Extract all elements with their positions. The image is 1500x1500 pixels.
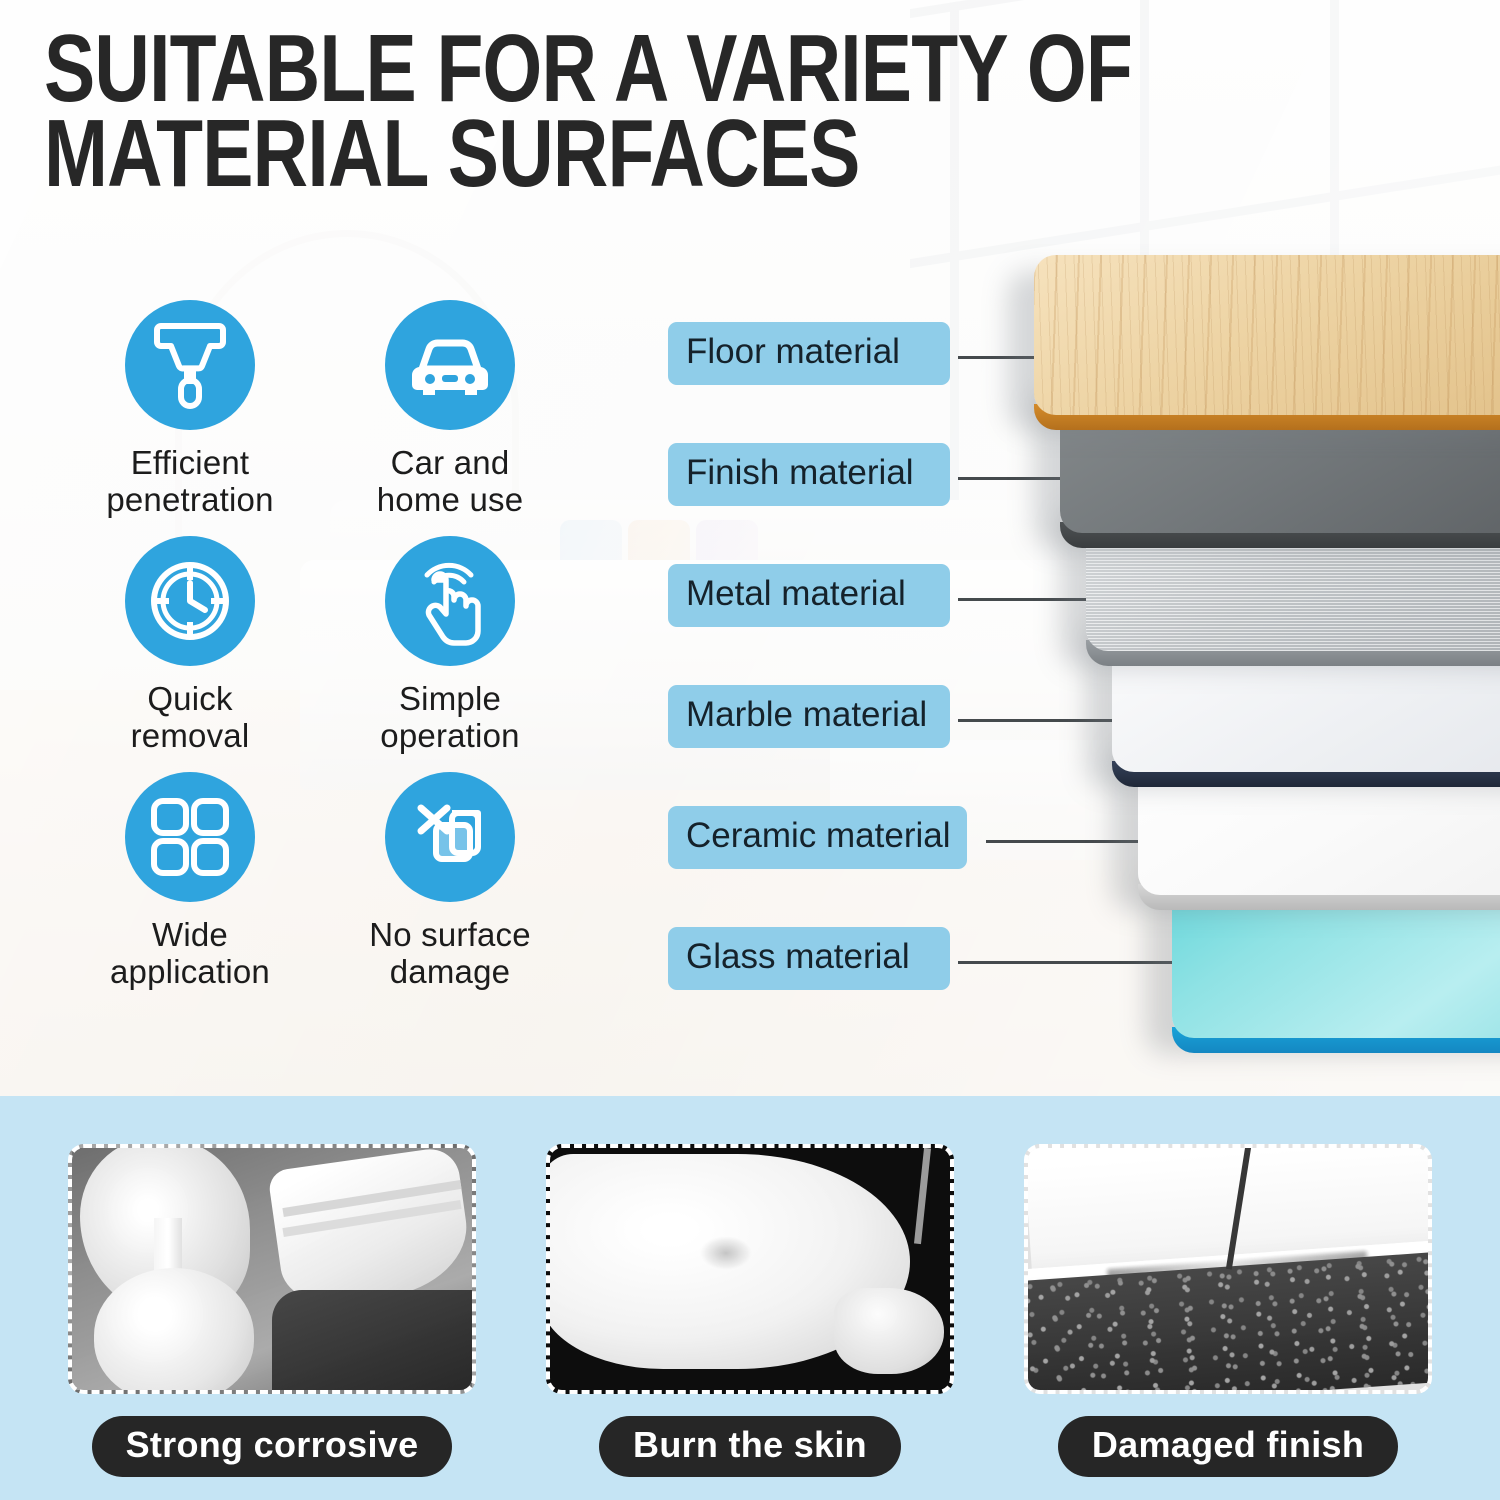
tap-hand-icon-circle	[385, 536, 515, 666]
no-damage-icon	[408, 795, 492, 879]
warning-caption: Damaged finish	[1058, 1416, 1398, 1477]
material-label: Glass material	[668, 927, 950, 990]
feature-car-and-home-use[interactable]: Car and home use	[320, 300, 580, 518]
warning-card[interactable]: Burn the skin	[540, 1144, 960, 1477]
car-icon	[406, 329, 494, 401]
damaged-car-sill-photo	[1024, 1144, 1432, 1394]
feature-label: Quick removal	[131, 680, 250, 754]
material-label-row[interactable]: Glass material	[668, 927, 967, 1048]
material-label: Ceramic material	[668, 806, 967, 869]
warning-caption: Burn the skin	[599, 1416, 901, 1477]
material-label: Floor material	[668, 322, 950, 385]
grid-squares-icon-circle	[125, 772, 255, 902]
scraper-icon	[153, 320, 227, 410]
material-label: Metal material	[668, 564, 950, 627]
scraper-icon-circle	[125, 300, 255, 430]
feature-quick-removal[interactable]: Quick removal	[60, 536, 320, 754]
feature-grid: Efficient penetration	[60, 300, 580, 1008]
warning-card[interactable]: Strong corrosive	[62, 1144, 482, 1477]
tap-hand-icon	[408, 556, 492, 646]
headline-line-1: SUITABLE FOR A VARIETY OF	[44, 26, 1084, 111]
grid-squares-icon	[149, 796, 231, 878]
feature-simple-operation[interactable]: Simple operation	[320, 536, 580, 754]
clock-icon-circle	[125, 536, 255, 666]
warning-caption: Strong corrosive	[92, 1416, 453, 1477]
car-icon-circle	[385, 300, 515, 430]
page-title: SUITABLE FOR A VARIETY OF MATERIAL SURFA…	[44, 26, 1084, 196]
feature-label: Efficient penetration	[106, 444, 273, 518]
chemist-holding-flask-photo	[68, 1144, 476, 1394]
panel-floor-material	[1034, 255, 1500, 415]
feature-label: No surface damage	[369, 916, 531, 990]
warning-card-list: Strong corrosive Burn the skin Damaged f…	[0, 1096, 1500, 1477]
feature-efficient-penetration[interactable]: Efficient penetration	[60, 300, 320, 518]
feature-no-surface-damage[interactable]: No surface damage	[320, 772, 580, 990]
material-label-row[interactable]: Metal material	[668, 564, 967, 685]
feature-label: Simple operation	[380, 680, 519, 754]
warnings-section: Strong corrosive Burn the skin Damaged f…	[0, 1096, 1500, 1500]
headline-line-2: MATERIAL SURFACES	[44, 111, 1084, 196]
no-damage-icon-circle	[385, 772, 515, 902]
feature-wide-application[interactable]: Wide application	[60, 772, 320, 990]
warning-card[interactable]: Damaged finish	[1018, 1144, 1438, 1477]
burned-forearm-photo	[546, 1144, 954, 1394]
material-label-row[interactable]: Ceramic material	[668, 806, 967, 927]
material-label-row[interactable]: Floor material	[668, 322, 967, 443]
material-label: Finish material	[668, 443, 950, 506]
clock-icon	[147, 558, 233, 644]
material-stack-illustration	[1020, 255, 1500, 1075]
infographic-page: SUITABLE FOR A VARIETY OF MATERIAL SURFA…	[0, 0, 1500, 1500]
material-label-list: Floor material Finish material Metal mat…	[668, 322, 967, 1048]
material-label-row[interactable]: Marble material	[668, 685, 967, 806]
features-section: SUITABLE FOR A VARIETY OF MATERIAL SURFA…	[0, 0, 1500, 1096]
feature-label: Car and home use	[377, 444, 524, 518]
material-label-row[interactable]: Finish material	[668, 443, 967, 564]
feature-label: Wide application	[110, 916, 270, 990]
material-label: Marble material	[668, 685, 950, 748]
